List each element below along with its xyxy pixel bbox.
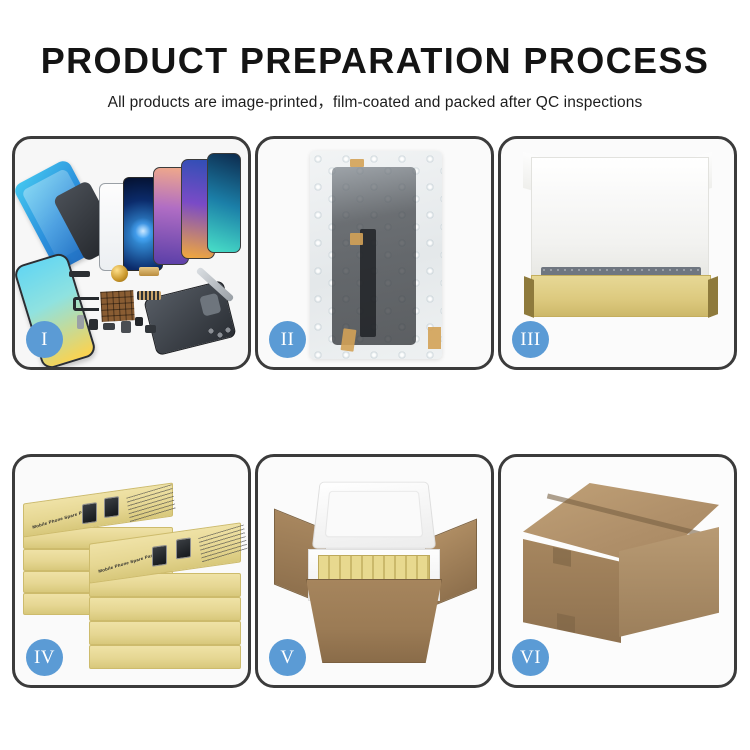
process-steps-grid: I II [12, 136, 738, 688]
box-phone-image [104, 496, 119, 518]
foam-lid-icon [312, 482, 436, 549]
small-component-icon [135, 317, 143, 326]
small-component-icon [77, 315, 84, 329]
box-label-text: Mobile Phone Spare Parts [98, 552, 157, 574]
step-panel-stacked-retail-boxes: Mobile Phone Spare Parts Mobile Phone Sp… [12, 454, 251, 688]
speaker-bar-icon [69, 271, 90, 277]
flex-cable-icon [73, 297, 99, 311]
box-spec-lines [198, 525, 248, 564]
step-panel-foam-cooler-carton: V [255, 454, 494, 688]
gold-connector-icon [139, 267, 159, 276]
step-panel-parts-and-screens: I [12, 136, 251, 370]
step-badge-1: I [26, 321, 63, 358]
box-phone-image [152, 545, 167, 567]
tape-piece-icon [341, 328, 357, 352]
stacked-box [89, 597, 241, 621]
small-component-icon [89, 319, 98, 330]
box-phone-image [82, 502, 97, 524]
step-badge-2: II [269, 321, 306, 358]
white-box-lid-icon [531, 157, 709, 277]
tape-piece-icon [350, 233, 363, 245]
chip-grid-icon [100, 290, 135, 322]
stacked-box [89, 621, 241, 645]
box-phone-image [176, 537, 191, 559]
step-badge-6: VI [512, 639, 549, 676]
carton-body-icon [306, 579, 442, 663]
screws-icon [208, 327, 232, 339]
step-panel-sealed-shipping-carton: VI [498, 454, 737, 688]
step-badge-4: IV [26, 639, 63, 676]
wrapped-cable-icon [360, 229, 376, 337]
small-component-icon [103, 323, 115, 330]
small-component-icon [145, 325, 156, 333]
stacked-box [89, 645, 241, 669]
small-component-icon [121, 321, 131, 333]
yellow-box-tray-icon [531, 275, 711, 317]
gold-coil-icon [111, 265, 128, 282]
step-panel-foam-lined-inner-box: III [498, 136, 737, 370]
tape-piece-icon [428, 327, 441, 349]
teal-display-screen-icon [207, 153, 241, 253]
step-badge-3: III [512, 321, 549, 358]
ribbon-cable-icon [137, 291, 161, 300]
page-title: PRODUCT PREPARATION PROCESS [0, 42, 750, 80]
header: PRODUCT PREPARATION PROCESS All products… [0, 0, 750, 112]
tape-piece-icon [350, 159, 364, 167]
bubble-wrap-bag-icon [310, 151, 442, 359]
page-subtitle: All products are image-printed，film-coat… [0, 90, 750, 112]
box-spec-lines [126, 484, 176, 523]
product-preparation-infographic: PRODUCT PREPARATION PROCESS All products… [0, 0, 750, 750]
step-panel-bubble-wrapped-part: II [255, 136, 494, 370]
step-badge-5: V [269, 639, 306, 676]
